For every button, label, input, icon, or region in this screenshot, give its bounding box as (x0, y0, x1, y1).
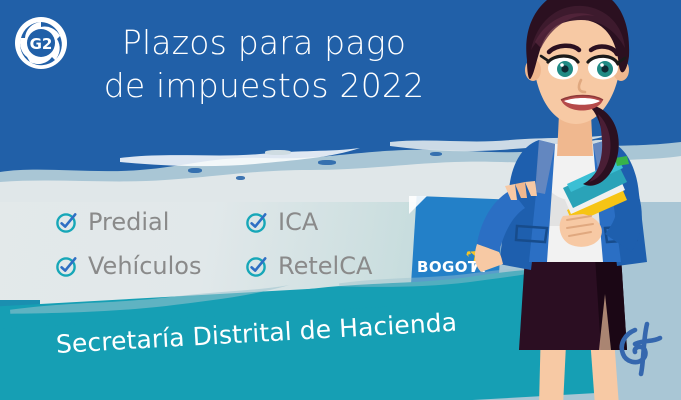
brush-fleck (236, 176, 245, 180)
promotional-banner: G2 Plazos para pago de impuestos 2022 Pr… (0, 0, 681, 400)
bogota-corner-glyph (613, 318, 665, 380)
checklist-item-label: Predial (88, 210, 169, 234)
check-circle-icon (55, 210, 79, 234)
brush-fleck (430, 152, 442, 156)
brush-fleck (318, 160, 336, 165)
checklist-item-vehiculos[interactable]: Vehículos (55, 254, 245, 278)
checklist-item-label: ICA (278, 210, 318, 234)
checklist-item-label: Vehículos (88, 254, 201, 278)
g2-logo-icon: G2 (14, 16, 68, 70)
check-circle-icon (55, 254, 79, 278)
headline: Plazos para pago de impuestos 2022 (84, 22, 444, 108)
g2-logo: G2 (14, 16, 68, 70)
brush-fleck (188, 168, 202, 173)
brush-fleck (265, 150, 291, 155)
g2-logo-text: G2 (30, 35, 53, 53)
check-circle-icon (245, 210, 269, 234)
checklist-item-predial[interactable]: Predial (55, 210, 245, 234)
